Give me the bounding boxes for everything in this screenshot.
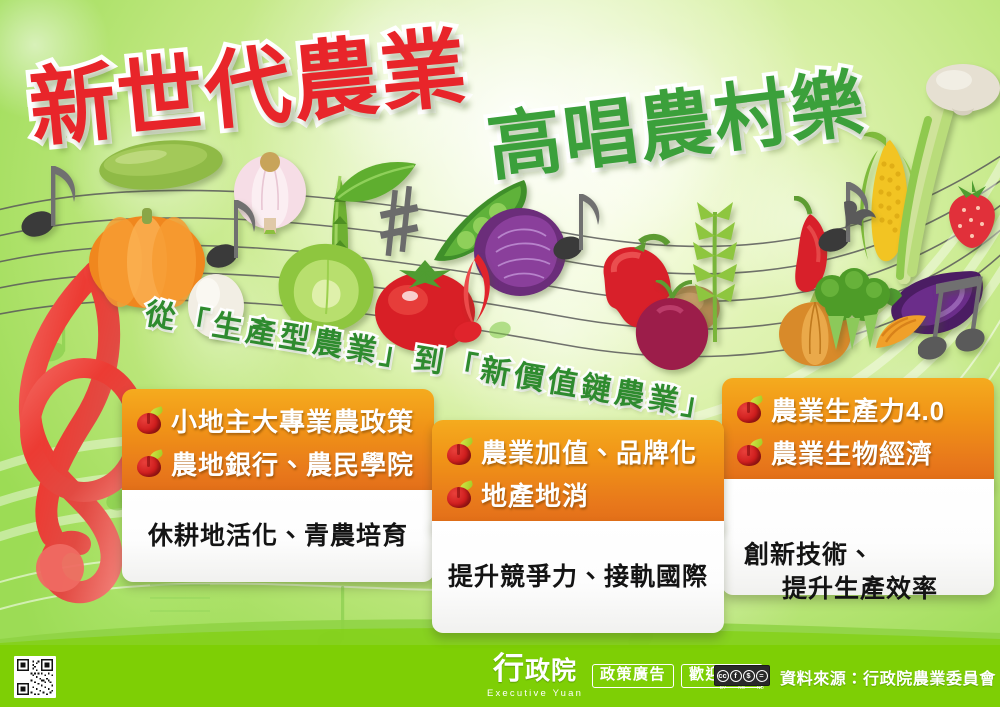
card-2-bullet-2-label: 地產地消 bbox=[481, 476, 589, 513]
apple-bullet-icon bbox=[446, 482, 472, 508]
eggplant-icon bbox=[880, 262, 990, 340]
card-3-bullet-2-label: 農業生物經濟 bbox=[771, 434, 933, 471]
eighth-note-icon bbox=[552, 190, 606, 268]
gov-name-char-1: 行 bbox=[493, 651, 525, 686]
rest-symbol-icon bbox=[838, 196, 884, 240]
red-eighth-note-icon bbox=[448, 248, 508, 344]
card-2-header: 農業加值、品牌化 地產地消 bbox=[432, 420, 724, 532]
card-1-bullet-2: 農地銀行、農民學院 bbox=[136, 445, 420, 482]
footer-bar: 行政院 Executive Yuan 政策廣告 歡迎轉貼 cc f $ = BY… bbox=[0, 645, 1000, 707]
creative-commons-labels: BY NC ND bbox=[714, 685, 770, 690]
red-pepper-icon bbox=[588, 232, 684, 336]
cc-label-by: BY bbox=[720, 685, 727, 690]
apple-bullet-icon bbox=[136, 451, 162, 477]
card-1-bullet-1-label: 小地主大專業農政策 bbox=[171, 402, 414, 439]
creative-commons-badge[interactable]: cc f $ = bbox=[714, 665, 770, 686]
cc-nc-icon: $ bbox=[743, 670, 755, 682]
title-primary: 新世代農業 bbox=[23, 0, 473, 164]
policy-ad-tag: 政策廣告 bbox=[592, 664, 674, 688]
gov-name-rest: 政院 bbox=[525, 657, 577, 685]
title-block: 新世代農業 高唱農村樂 bbox=[0, 0, 1000, 200]
apple-bullet-icon bbox=[136, 408, 162, 434]
card-2-caption: 提升競爭力、接軌國際 bbox=[432, 521, 724, 633]
card-3-bullet-1-label: 農業生產力4.0 bbox=[771, 391, 945, 428]
poster-canvas: 新世代農業 高唱農村樂 從「生產型農業」到「新價值鏈農業」 小地主大專業農政策 … bbox=[0, 0, 1000, 707]
eighth-note-icon bbox=[206, 196, 262, 276]
purple-cabbage-icon bbox=[470, 202, 570, 298]
cc-by-icon: f bbox=[730, 670, 742, 682]
rice-stalk-icon bbox=[678, 192, 752, 342]
policy-card-3[interactable]: 農業生產力4.0 農業生物經濟 創新技術、 提升生產效率 bbox=[722, 378, 994, 595]
gov-name-english: Executive Yuan bbox=[480, 688, 590, 699]
card-1-bullet-2-label: 農地銀行、農民學院 bbox=[171, 445, 414, 482]
apple-bullet-icon bbox=[446, 439, 472, 465]
card-1-caption: 休耕地活化、青農培育 bbox=[122, 490, 434, 582]
card-2-bullet-1: 農業加值、品牌化 bbox=[446, 433, 710, 470]
gov-name-chinese: 行政院 bbox=[480, 653, 590, 684]
chili-icon bbox=[782, 196, 838, 300]
title-secondary: 高唱農村樂 bbox=[481, 43, 871, 196]
card-1-header: 小地主大專業農政策 農地銀行、農民學院 bbox=[122, 389, 434, 501]
policy-card-2[interactable]: 農業加值、品牌化 地產地消 提升競爭力、接軌國際 bbox=[432, 420, 724, 633]
card-3-header: 農業生產力4.0 農業生物經濟 bbox=[722, 378, 994, 490]
card-2-bullet-2: 地產地消 bbox=[446, 476, 710, 513]
broccoli-icon bbox=[806, 266, 898, 352]
card-3-caption: 創新技術、 提升生產效率 bbox=[722, 479, 994, 595]
beamed-notes-icon bbox=[918, 270, 998, 366]
kiwi-icon bbox=[660, 282, 722, 336]
cc-label-nd: ND bbox=[757, 685, 764, 690]
card-3-bullet-1: 農業生產力4.0 bbox=[736, 391, 980, 428]
onion-icon bbox=[774, 288, 856, 368]
cc-nd-icon: = bbox=[756, 670, 768, 682]
source-attribution: 資料來源：行政院農業委員會 bbox=[780, 665, 996, 689]
policy-card-1[interactable]: 小地主大專業農政策 農地銀行、農民學院 休耕地活化、青農培育 bbox=[122, 389, 434, 582]
qr-code[interactable] bbox=[14, 656, 56, 698]
beet-icon bbox=[624, 280, 720, 372]
executive-yuan-logo: 行政院 Executive Yuan bbox=[480, 653, 590, 699]
apple-bullet-icon bbox=[736, 440, 762, 466]
apple-bullet-icon bbox=[736, 397, 762, 423]
card-3-caption-line-1: 創新技術、 bbox=[744, 541, 874, 569]
card-2-bullet-1-label: 農業加值、品牌化 bbox=[481, 433, 697, 470]
card-1-bullet-1: 小地主大專業農政策 bbox=[136, 402, 420, 439]
pumpkin-slice-icon bbox=[872, 310, 930, 352]
cc-label-nc: NC bbox=[738, 685, 745, 690]
card-3-bullet-2: 農業生物經濟 bbox=[736, 434, 980, 471]
cc-mark-icon: cc bbox=[717, 670, 729, 682]
card-3-caption-line-2: 提升生產效率 bbox=[744, 573, 978, 607]
